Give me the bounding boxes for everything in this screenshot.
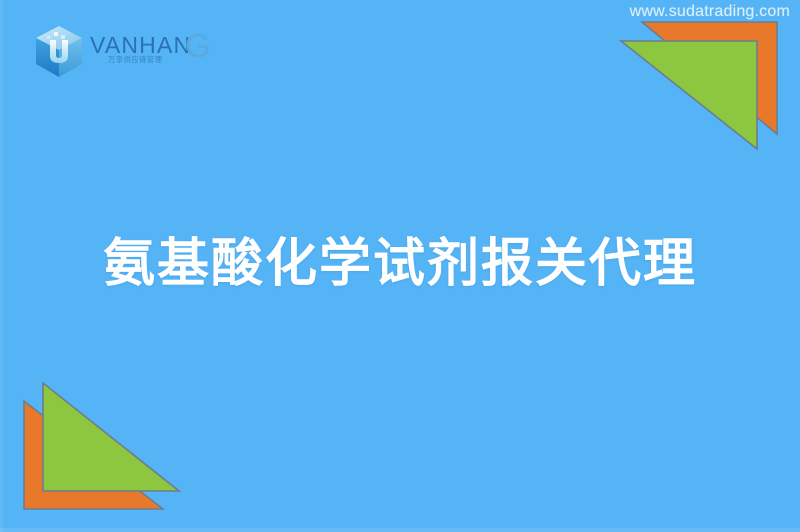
bottom-edge-highlight: [0, 528, 800, 532]
slide-canvas: www.sudatrading.com: [0, 0, 800, 532]
page-title: 氨基酸化学试剂报关代理: [0, 231, 800, 297]
wordmark-g-letter: G: [185, 29, 211, 64]
logo-wordmark: VANHAN G 万享供应链管理: [90, 29, 230, 73]
top-right-orange-triangle: [642, 22, 777, 134]
brand-logo[interactable]: VANHAN G 万享供应链管理: [30, 23, 230, 81]
bottom-left-orange-triangle: [24, 401, 163, 509]
cube-shield-logo-icon: [30, 23, 88, 81]
site-url-watermark: www.sudatrading.com: [630, 3, 790, 21]
top-right-green-triangle: [621, 41, 757, 149]
left-edge-highlight: [0, 0, 3, 532]
wordmark-subtitle: 万享供应链管理: [108, 55, 163, 64]
bottom-left-green-triangle: [43, 383, 179, 491]
